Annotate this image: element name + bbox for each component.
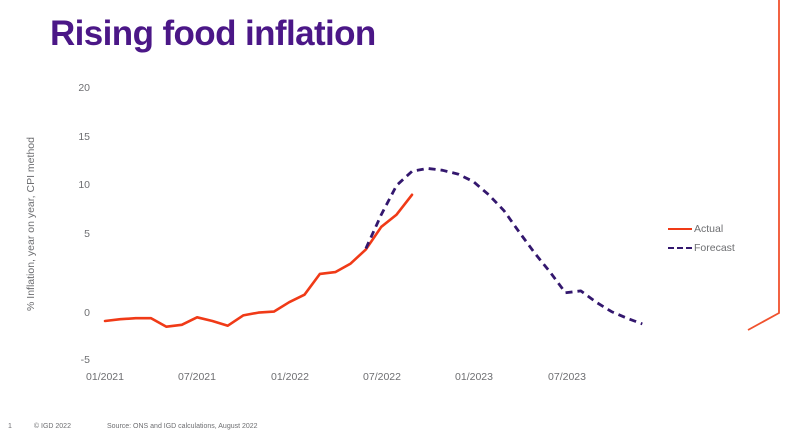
legend-label-forecast: Forecast	[692, 242, 735, 254]
footer-page-number: 1	[8, 423, 12, 430]
inflation-line-chart[interactable]: % Inflation, year on year, CPI method 20…	[0, 0, 800, 435]
slide-canvas: Rising food inflation % Inflation, year …	[0, 0, 800, 435]
chart-legend: Actual Forecast	[668, 219, 778, 257]
footer-copyright: © IGD 2022	[34, 423, 71, 430]
footer-source: Source: ONS and IGD calculations, August…	[107, 423, 258, 430]
legend-swatch-dashed-icon	[668, 243, 692, 253]
slide-footer: 1 © IGD 2022 Source: ONS and IGD calcula…	[0, 418, 800, 435]
series-line-actual	[105, 195, 412, 327]
legend-swatch-solid-icon	[668, 224, 692, 234]
plot-lines	[0, 0, 800, 435]
legend-item-forecast[interactable]: Forecast	[668, 238, 778, 257]
series-line-forecast	[366, 168, 642, 324]
legend-item-actual[interactable]: Actual	[668, 219, 778, 238]
legend-label-actual: Actual	[692, 223, 723, 235]
